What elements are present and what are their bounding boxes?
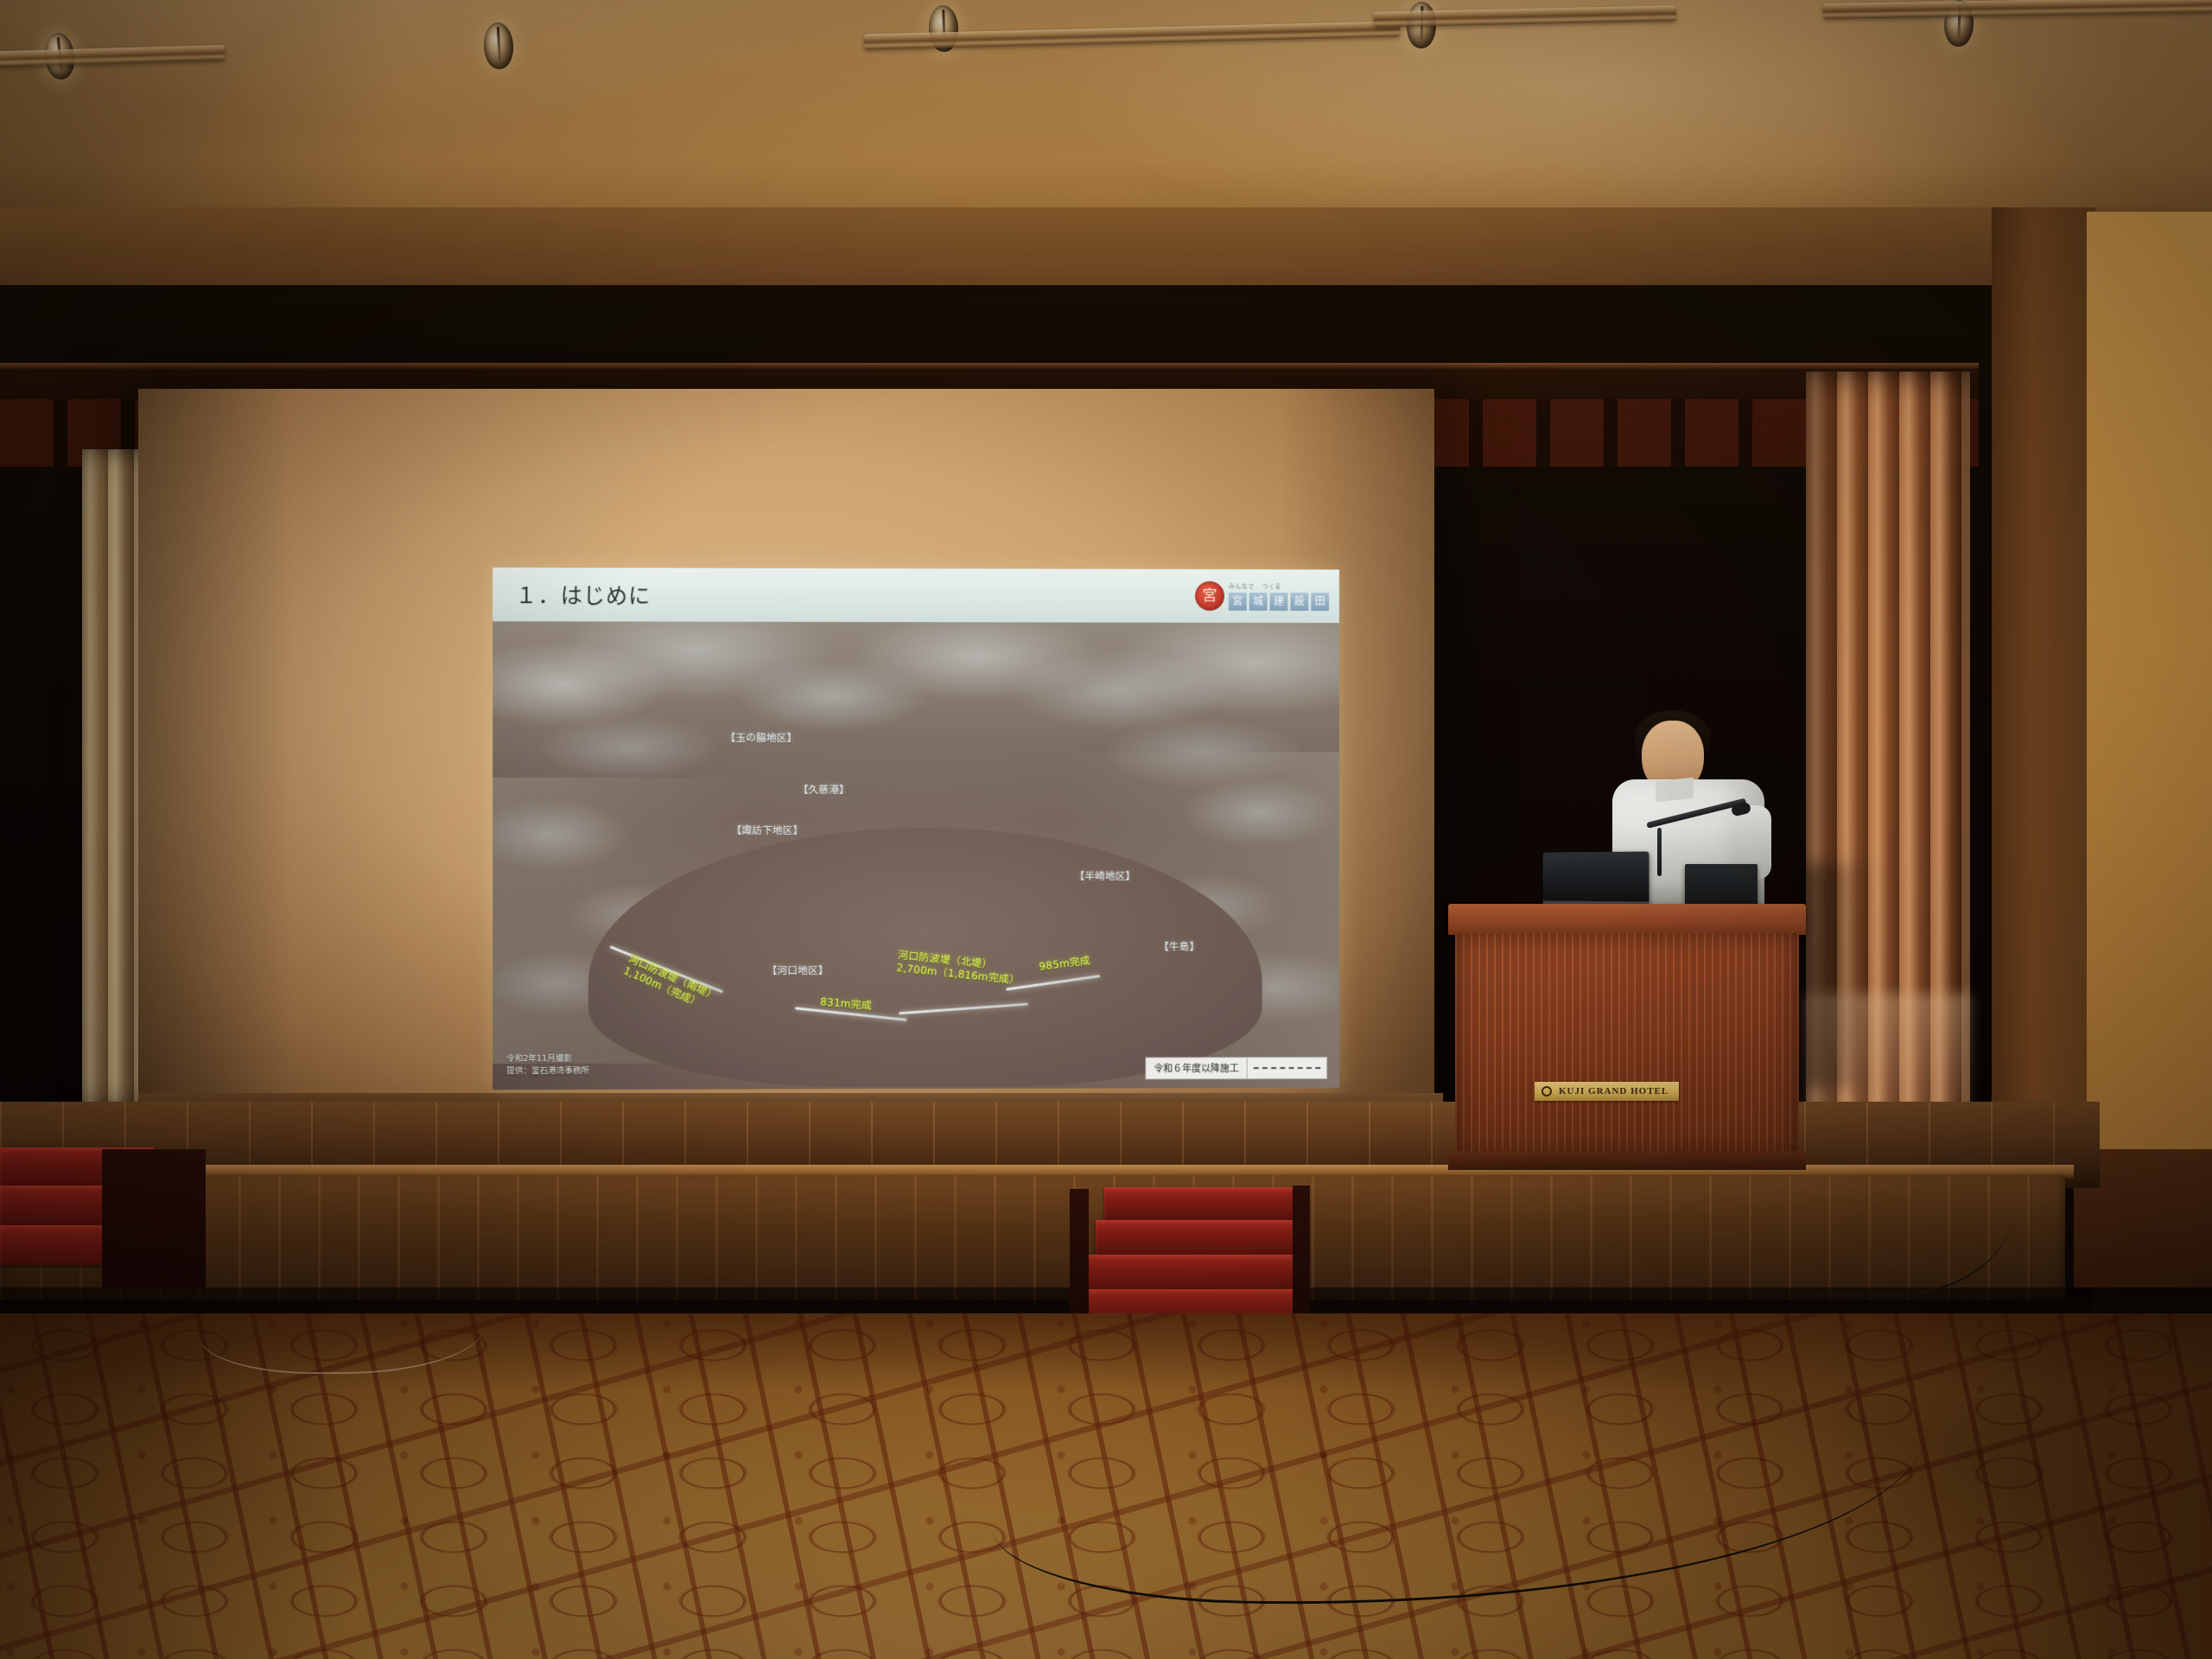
logo-character-blocks: 宮 城 建 設 田 — [1229, 592, 1329, 610]
slide-title: １．はじめに — [515, 579, 651, 610]
map-place-label: 【諏訪下地区】 — [732, 823, 804, 837]
map-place-label: 【牛島】 — [1159, 940, 1199, 954]
photo-credit-source: 提供：釜石港湾事務所 — [506, 1065, 589, 1077]
step-tread — [1104, 1187, 1301, 1220]
step-side-panel — [1070, 1189, 1089, 1327]
right-side-wall — [2087, 212, 2212, 1179]
lectern-body — [1455, 933, 1799, 1156]
lectern-top — [1448, 904, 1806, 935]
photo-credit: 令和2年11月撮影 提供：釜石港湾事務所 — [506, 1053, 589, 1077]
legend-label: 令和６年度以降施工 — [1146, 1058, 1247, 1078]
second-laptop[interactable] — [1685, 864, 1758, 906]
map-place-label: 【玉の脇地区】 — [726, 731, 798, 745]
microphone-neck — [1657, 828, 1662, 876]
seal-icon: 宮 — [1195, 582, 1224, 611]
organization-logo: 宮 みんなで つくる 宮 城 建 設 田 — [1195, 582, 1329, 611]
venue-plaque: KUJI GRAND HOTEL — [1535, 1082, 1679, 1101]
logo-block: 田 — [1311, 592, 1329, 610]
map-place-label: 【河口地区】 — [767, 963, 829, 977]
logo-block: 設 — [1290, 592, 1308, 610]
logo-block: 宮 — [1229, 592, 1247, 610]
dashed-line-icon — [1248, 1058, 1326, 1078]
logo-wordmark: みんなで つくる 宮 城 建 設 田 — [1229, 582, 1329, 610]
logo-block: 建 — [1270, 592, 1288, 610]
logo-block: 城 — [1249, 592, 1268, 610]
photo-credit-date: 令和2年11月撮影 — [506, 1053, 589, 1065]
lectern-base — [1448, 1151, 1806, 1170]
logo-tagline: みんなで つくる — [1229, 582, 1329, 590]
stage-cable — [199, 1279, 484, 1374]
step-tread — [0, 1225, 105, 1265]
logo-tagline-part: みんなで — [1229, 582, 1255, 590]
shirt-collar — [1656, 778, 1694, 803]
venue-plaque-text: KUJI GRAND HOTEL — [1559, 1086, 1669, 1096]
step-side-panel — [102, 1149, 206, 1289]
aerial-photo-map: 【玉の脇地区】【久慈港】【諏訪下地区】【半崎地区】【牛島】【河口地区】 河口防波… — [493, 621, 1339, 1090]
conference-hall-photo: １．はじめに 宮 みんなで つくる 宮 城 建 設 田 — [0, 0, 2212, 1659]
map-place-label: 【久慈港】 — [798, 783, 849, 797]
valance-top-edge — [0, 363, 1979, 370]
projected-slide: １．はじめに 宮 みんなで つくる 宮 城 建 設 田 — [493, 568, 1339, 1090]
map-legend: 令和６年度以降施工 — [1145, 1057, 1327, 1079]
circle-ring-icon — [1541, 1086, 1552, 1096]
right-wall-pillar — [1992, 207, 2095, 1166]
map-place-label: 【半崎地区】 — [1075, 869, 1136, 883]
step-side-panel — [1293, 1185, 1310, 1327]
step-tread — [1087, 1255, 1301, 1289]
slide-header: １．はじめに 宮 みんなで つくる 宮 城 建 設 田 — [493, 568, 1339, 623]
step-tread — [1096, 1220, 1301, 1255]
presenter-shadow — [1802, 864, 1877, 1089]
logo-tagline-part: つくる — [1262, 582, 1281, 590]
lectern: KUJI GRAND HOTEL — [1448, 904, 1806, 1163]
laptop-screen[interactable] — [1543, 851, 1649, 906]
